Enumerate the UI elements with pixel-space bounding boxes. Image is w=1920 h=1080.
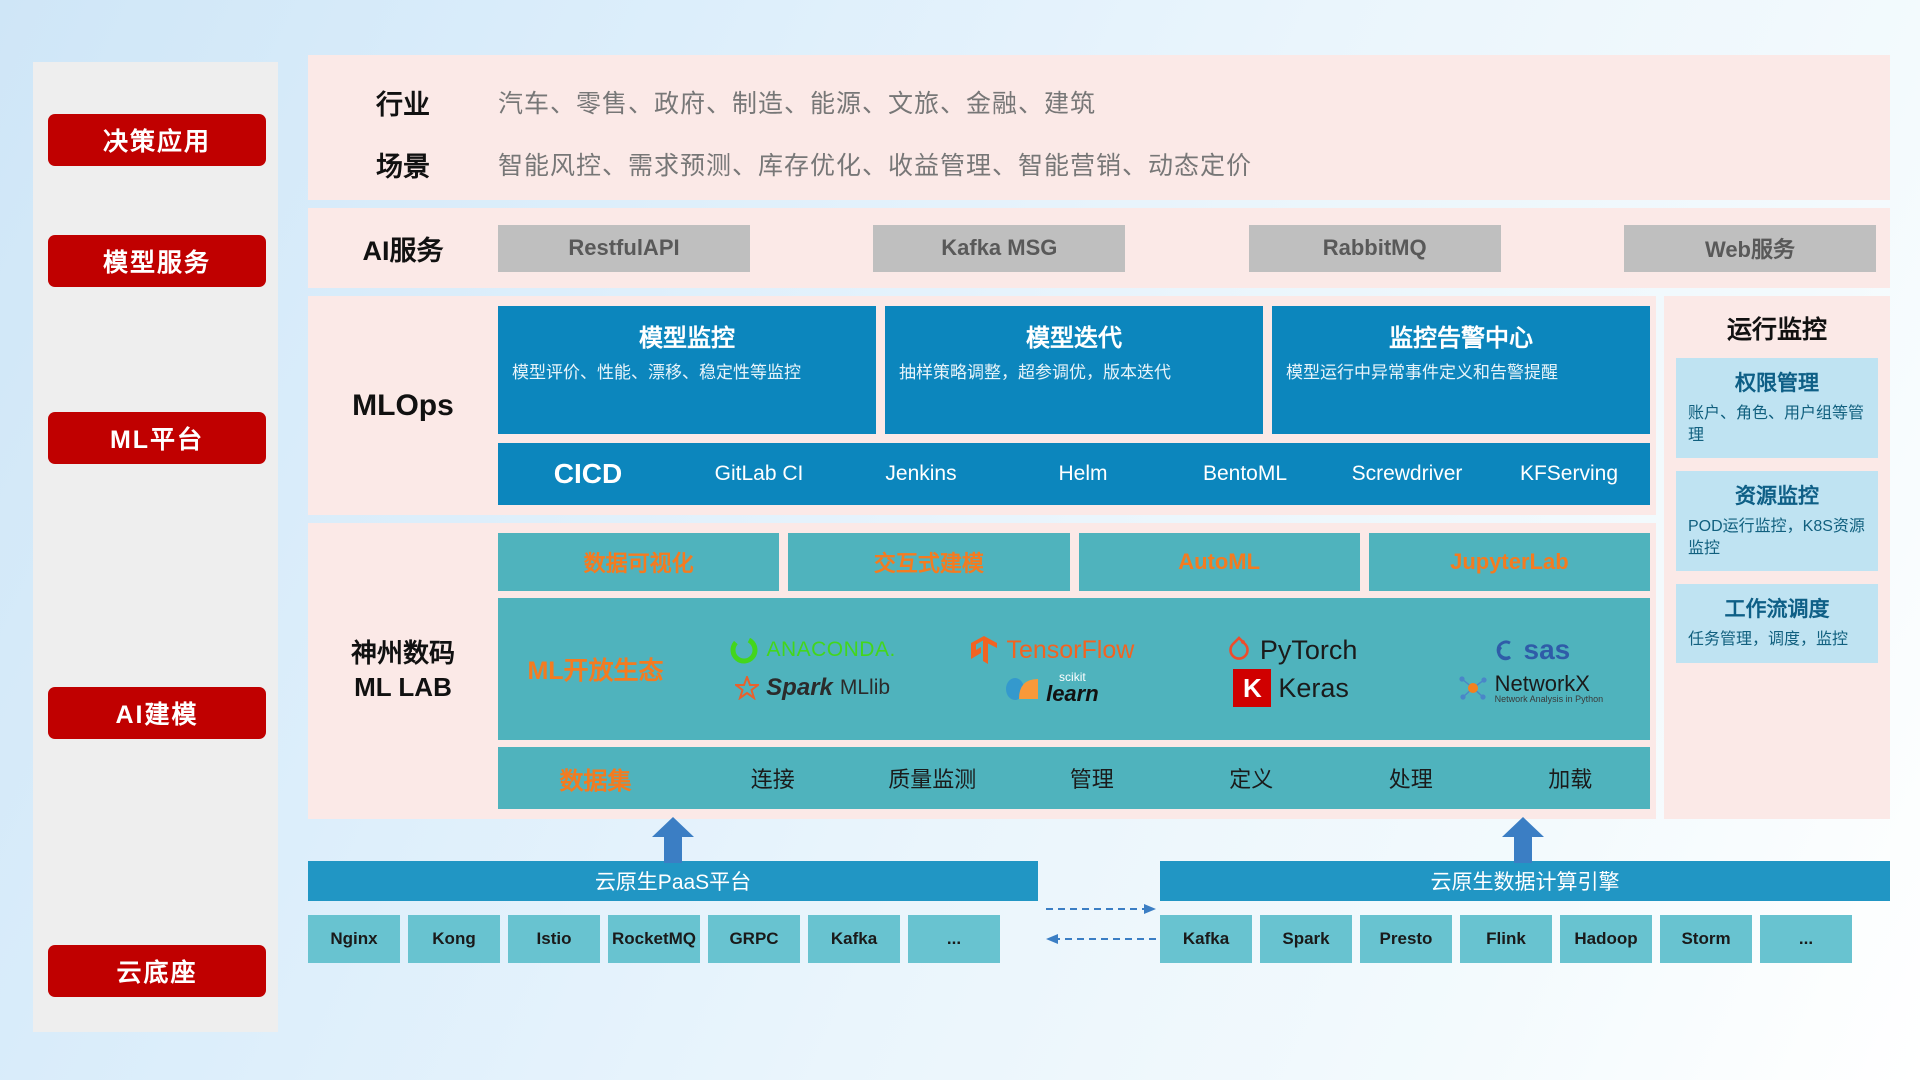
cloud-paas-group: 云原生PaaS平台 Nginx Kong Istio RocketMQ GRPC…: [308, 861, 1038, 963]
paas-chip-more[interactable]: ...: [908, 915, 1000, 963]
paas-chip-nginx[interactable]: Nginx: [308, 915, 400, 963]
ml-lab-label: 神州数码 ML LAB: [308, 637, 498, 705]
cloud-paas-title: 云原生PaaS平台: [308, 861, 1038, 901]
ai-service-band: AI服务 RestfulAPI Kafka MSG RabbitMQ Web服务: [308, 208, 1890, 288]
cicd-item-screwdriver[interactable]: Screwdriver: [1326, 462, 1488, 486]
card-desc: 账户、角色、用户组等管理: [1688, 403, 1866, 446]
card-desc: 模型运行中异常事件定义和告警提醒: [1286, 362, 1636, 385]
tensorflow-icon: [969, 634, 999, 666]
paas-chip-istio[interactable]: Istio: [508, 915, 600, 963]
card-title: 模型迭代: [899, 318, 1249, 353]
ai-service-chip-list: RestfulAPI Kafka MSG RabbitMQ Web服务: [498, 225, 1890, 272]
anaconda-label: ANACONDA.: [766, 638, 895, 662]
keras-label: Keras: [1278, 673, 1349, 704]
dataset-bar: 数据集 连接 质量监测 管理 定义 处理 加载: [498, 747, 1650, 809]
compute-chip-hadoop[interactable]: Hadoop: [1560, 915, 1652, 963]
card-desc: 抽样策略调整，超参调优，版本迭代: [899, 362, 1249, 385]
scenario-row: 场景 智能风控、需求预测、库存优化、收益管理、智能营销、动态定价: [308, 139, 1890, 189]
industry-label: 行业: [308, 83, 498, 122]
ai-service-chip-kafka-msg[interactable]: Kafka MSG: [873, 225, 1125, 272]
ml-lab-content: 数据可视化 交互式建模 AutoML JupyterLab ML开放生态: [498, 533, 1656, 809]
networkx-logo: NetworkX Network Analysis in Python: [1411, 672, 1650, 705]
ai-service-chip-web[interactable]: Web服务: [1624, 225, 1876, 272]
anaconda-icon: [729, 635, 759, 665]
cloud-compute-group: 云原生数据计算引擎 Kafka Spark Presto Flink Hadoo…: [1160, 861, 1890, 963]
card-title: 监控告警中心: [1286, 318, 1636, 353]
pytorch-logo: PyTorch: [1172, 635, 1411, 666]
card-desc: 模型评价、性能、漂移、稳定性等监控: [512, 362, 862, 385]
mlops-card-list: 模型监控 模型评价、性能、漂移、稳定性等监控 模型迭代 抽样策略调整，超参调优，…: [498, 306, 1656, 434]
card-title: 权限管理: [1688, 367, 1866, 397]
ai-service-chip-restfulapi[interactable]: RestfulAPI: [498, 225, 750, 272]
dataset-item-process[interactable]: 处理: [1331, 762, 1491, 794]
arrow-up-paas-icon: [648, 815, 698, 865]
rail-tag-decision[interactable]: 决策应用: [48, 114, 266, 166]
pytorch-icon: [1225, 635, 1253, 665]
ai-service-label: AI服务: [308, 229, 498, 268]
keras-mark: K: [1233, 669, 1271, 707]
dataset-item-manage[interactable]: 管理: [1012, 762, 1172, 794]
cicd-item-bentoml[interactable]: BentoML: [1164, 462, 1326, 486]
dataset-item-list: 连接 质量监测 管理 定义 处理 加载: [693, 762, 1650, 794]
cloud-base-band: 云原生PaaS平台 Nginx Kong Istio RocketMQ GRPC…: [308, 833, 1890, 983]
cicd-item-kfserving[interactable]: KFServing: [1488, 462, 1650, 486]
tensorflow-label: TensorFlow: [1006, 636, 1134, 665]
card-title: 资源监控: [1688, 480, 1866, 510]
card-desc: POD运行监控，K8S资源监控: [1688, 516, 1866, 559]
scikit-learn-logo: scikit learn: [932, 671, 1171, 705]
sas-logo: sas: [1411, 634, 1650, 666]
mlops-card-model-monitor[interactable]: 模型监控 模型评价、性能、漂移、稳定性等监控: [498, 306, 876, 434]
industry-row: 行业 汽车、零售、政府、制造、能源、文旅、金融、建筑: [308, 77, 1890, 127]
arrow-up-compute-icon: [1498, 815, 1548, 865]
mlops-card-alert-center[interactable]: 监控告警中心 模型运行中异常事件定义和告警提醒: [1272, 306, 1650, 434]
monitor-card-resource[interactable]: 资源监控 POD运行监控，K8S资源监控: [1676, 471, 1878, 571]
paas-chip-kafka[interactable]: Kafka: [808, 915, 900, 963]
spark-label: Spark: [766, 674, 833, 702]
mlops-card-model-iteration[interactable]: 模型迭代 抽样策略调整，超参调优，版本迭代: [885, 306, 1263, 434]
mlops-label: MLOps: [308, 389, 498, 423]
networkx-tagline: Network Analysis in Python: [1495, 695, 1604, 704]
networkx-icon: [1458, 673, 1488, 703]
ml-ecosystem-title: ML开放生态: [498, 651, 693, 687]
learn-label: learn: [1046, 683, 1099, 705]
paas-chip-rocketmq[interactable]: RocketMQ: [608, 915, 700, 963]
paas-chip-grpc[interactable]: GRPC: [708, 915, 800, 963]
cicd-item-helm[interactable]: Helm: [1002, 462, 1164, 486]
ml-lab-label-line1: 神州数码: [308, 637, 498, 671]
layer-rail: [33, 62, 278, 1032]
ml-ecosystem-logo-grid: ANACONDA. TensorFlow: [693, 631, 1650, 707]
architecture-diagram: 决策应用 模型服务 ML平台 AI建模 云底座 行业 汽车、零售、政府、制造、能…: [0, 0, 1920, 1080]
cloud-paas-chip-list: Nginx Kong Istio RocketMQ GRPC Kafka ...: [308, 915, 1038, 963]
cicd-item-gitlab-ci[interactable]: GitLab CI: [678, 462, 840, 486]
runtime-monitoring-title: 运行监控: [1676, 310, 1878, 346]
industry-value: 汽车、零售、政府、制造、能源、文旅、金融、建筑: [498, 84, 1096, 120]
rail-tag-ai-modeling[interactable]: AI建模: [48, 687, 266, 739]
compute-chip-presto[interactable]: Presto: [1360, 915, 1452, 963]
mlops-band: MLOps 模型监控 模型评价、性能、漂移、稳定性等监控 模型迭代 抽样策略调整…: [308, 296, 1656, 515]
pytorch-label: PyTorch: [1260, 635, 1358, 666]
cicd-title: CICD: [498, 458, 678, 490]
runtime-monitoring-column: 运行监控 权限管理 账户、角色、用户组等管理 资源监控 POD运行监控，K8S资…: [1664, 296, 1890, 819]
decision-layer-band: 行业 汽车、零售、政府、制造、能源、文旅、金融、建筑 场景 智能风控、需求预测、…: [308, 55, 1890, 200]
compute-chip-more[interactable]: ...: [1760, 915, 1852, 963]
scenario-label: 场景: [308, 145, 498, 184]
dataset-item-quality[interactable]: 质量监测: [853, 762, 1013, 794]
tool-interactive-modeling[interactable]: 交互式建模: [788, 533, 1069, 591]
rail-tag-model-serving[interactable]: 模型服务: [48, 235, 266, 287]
paas-chip-kong[interactable]: Kong: [408, 915, 500, 963]
anaconda-logo: ANACONDA.: [693, 635, 932, 665]
tool-data-visualization[interactable]: 数据可视化: [498, 533, 779, 591]
spark-mllib-logo: Spark MLlib: [693, 674, 932, 702]
sas-label: sas: [1524, 634, 1571, 666]
cloud-compute-chip-list: Kafka Spark Presto Flink Hadoop Storm ..…: [1160, 915, 1890, 963]
compute-chip-storm[interactable]: Storm: [1660, 915, 1752, 963]
tool-automl[interactable]: AutoML: [1079, 533, 1360, 591]
cloud-exchange-arrows-icon: [1042, 897, 1160, 953]
dataset-item-connect[interactable]: 连接: [693, 762, 853, 794]
dataset-item-load[interactable]: 加载: [1491, 762, 1651, 794]
compute-chip-flink[interactable]: Flink: [1460, 915, 1552, 963]
dataset-item-define[interactable]: 定义: [1172, 762, 1332, 794]
rail-tag-cloud-base[interactable]: 云底座: [48, 945, 266, 997]
compute-chip-spark[interactable]: Spark: [1260, 915, 1352, 963]
networkx-label: NetworkX: [1495, 672, 1604, 695]
monitor-card-workflow[interactable]: 工作流调度 任务管理，调度，监控: [1676, 584, 1878, 663]
mlops-content: 模型监控 模型评价、性能、漂移、稳定性等监控 模型迭代 抽样策略调整，超参调优，…: [498, 306, 1656, 505]
keras-logo: K Keras: [1172, 669, 1411, 707]
cicd-item-list: GitLab CI Jenkins Helm BentoML Screwdriv…: [678, 462, 1650, 486]
cicd-item-jenkins[interactable]: Jenkins: [840, 462, 1002, 486]
ai-service-chip-rabbitmq[interactable]: RabbitMQ: [1249, 225, 1501, 272]
ml-lab-label-line2: ML LAB: [308, 671, 498, 705]
monitor-card-permission[interactable]: 权限管理 账户、角色、用户组等管理: [1676, 358, 1878, 458]
card-desc: 任务管理，调度，监控: [1688, 629, 1866, 651]
spark-star-icon: [735, 676, 759, 700]
sas-icon: [1491, 637, 1517, 663]
dataset-title: 数据集: [498, 761, 693, 796]
ml-ecosystem-panel: ML开放生态 ANACONDA.: [498, 598, 1650, 740]
compute-chip-kafka[interactable]: Kafka: [1160, 915, 1252, 963]
cloud-compute-title: 云原生数据计算引擎: [1160, 861, 1890, 901]
ml-lab-band: 神州数码 ML LAB 数据可视化 交互式建模 AutoML JupyterLa…: [308, 523, 1656, 819]
tool-jupyterlab[interactable]: JupyterLab: [1369, 533, 1650, 591]
rail-tag-ml-platform[interactable]: ML平台: [48, 412, 266, 464]
ml-lab-tool-list: 数据可视化 交互式建模 AutoML JupyterLab: [498, 533, 1650, 591]
cicd-bar: CICD GitLab CI Jenkins Helm BentoML Scre…: [498, 443, 1650, 505]
scikit-learn-icon: [1005, 673, 1039, 703]
card-title: 工作流调度: [1688, 593, 1866, 623]
card-title: 模型监控: [512, 318, 862, 353]
platform-row: MLOps 模型监控 模型评价、性能、漂移、稳定性等监控 模型迭代 抽样策略调整…: [308, 296, 1890, 819]
mllib-label: MLlib: [840, 676, 890, 700]
scenario-value: 智能风控、需求预测、库存优化、收益管理、智能营销、动态定价: [498, 146, 1252, 182]
tensorflow-logo: TensorFlow: [932, 634, 1171, 666]
main-column: 行业 汽车、零售、政府、制造、能源、文旅、金融、建筑 场景 智能风控、需求预测、…: [308, 55, 1890, 983]
